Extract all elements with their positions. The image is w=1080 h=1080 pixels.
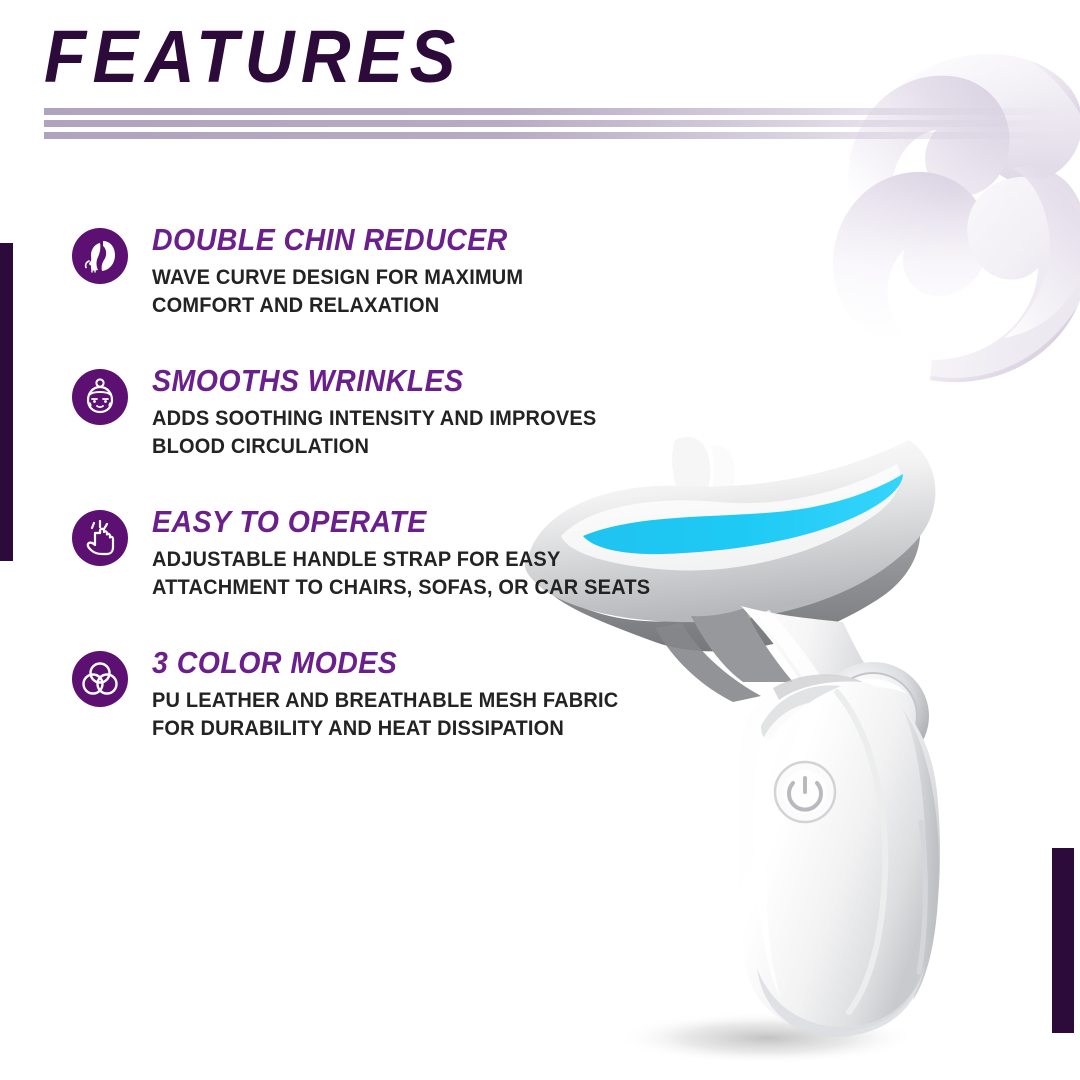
tapping-hand-icon <box>72 510 128 566</box>
feature-body-line: PU LEATHER AND BREATHABLE MESH FABRIC <box>152 686 618 714</box>
feature-text: DOUBLE CHIN REDUCER WAVE CURVE DESIGN FO… <box>152 222 551 319</box>
feature-text: 3 COLOR MODES PU LEATHER AND BREATHABLE … <box>152 645 654 742</box>
feature-text: SMOOTHS WRINKLES ADDS SOOTHING INTENSITY… <box>152 363 630 460</box>
divider-line-2 <box>44 120 1054 127</box>
feature-body-line: WAVE CURVE DESIGN FOR MAXIMUM <box>152 263 523 291</box>
page-title: FEATURES <box>44 18 974 96</box>
feature-list: DOUBLE CHIN REDUCER WAVE CURVE DESIGN FO… <box>72 222 632 742</box>
handle-seam <box>919 822 925 972</box>
feature-body-line: ATTACHMENT TO CHAIRS, SOFAS, OR CAR SEAT… <box>152 573 650 601</box>
wrinkled-face-icon <box>72 369 128 425</box>
feature-body: WAVE CURVE DESIGN FOR MAXIMUM COMFORT AN… <box>152 263 523 319</box>
feature-heading: DOUBLE CHIN REDUCER <box>152 222 519 258</box>
feature-heading: EASY TO OPERATE <box>152 504 645 540</box>
feature-body-line: ADDS SOOTHING INTENSITY AND IMPROVES <box>152 404 596 432</box>
right-accent-bar <box>1052 848 1074 1033</box>
feature-body: PU LEATHER AND BREATHABLE MESH FABRIC FO… <box>152 686 618 742</box>
feature-body: ADDS SOOTHING INTENSITY AND IMPROVES BLO… <box>152 404 596 460</box>
title-divider-rules <box>44 108 1054 139</box>
three-circles-color-icon <box>72 651 128 707</box>
infographic-page: FEATURES DOUBLE CHIN REDUCER WAVE CURV <box>0 0 1080 1080</box>
device-joint <box>817 662 929 770</box>
device-neck <box>741 606 897 748</box>
handle-side-panel <box>901 706 939 1000</box>
power-button[interactable] <box>775 762 835 822</box>
feature-text: EASY TO OPERATE ADJUSTABLE HANDLE STRAP … <box>152 504 688 601</box>
feature-body-line: FOR DURABILITY AND HEAT DISSIPATION <box>152 714 618 742</box>
feature-heading: SMOOTHS WRINKLES <box>152 363 592 399</box>
header: FEATURES <box>44 18 1044 144</box>
feature-item-easy-to-operate: EASY TO OPERATE ADJUSTABLE HANDLE STRAP … <box>72 504 632 601</box>
feature-body: ADJUSTABLE HANDLE STRAP FOR EASY ATTACHM… <box>152 545 650 601</box>
divider-line-3 <box>44 132 1054 139</box>
feature-body-line: COMFORT AND RELAXATION <box>152 291 523 319</box>
feature-item-double-chin-reducer: DOUBLE CHIN REDUCER WAVE CURVE DESIGN FO… <box>72 222 632 319</box>
left-accent-bar <box>0 243 13 561</box>
divider-line-1 <box>44 108 1054 115</box>
feature-item-smooths-wrinkles: SMOOTHS WRINKLES ADDS SOOTHING INTENSITY… <box>72 363 632 460</box>
device-shadow <box>617 1012 917 1064</box>
face-profile-chin-icon <box>72 228 128 284</box>
feature-body-line: BLOOD CIRCULATION <box>152 432 596 460</box>
feature-heading: 3 COLOR MODES <box>152 645 613 681</box>
feature-body-line: ADJUSTABLE HANDLE STRAP FOR EASY <box>152 545 650 573</box>
device-handle <box>738 676 940 1032</box>
feature-item-3-color-modes: 3 COLOR MODES PU LEATHER AND BREATHABLE … <box>72 645 632 742</box>
